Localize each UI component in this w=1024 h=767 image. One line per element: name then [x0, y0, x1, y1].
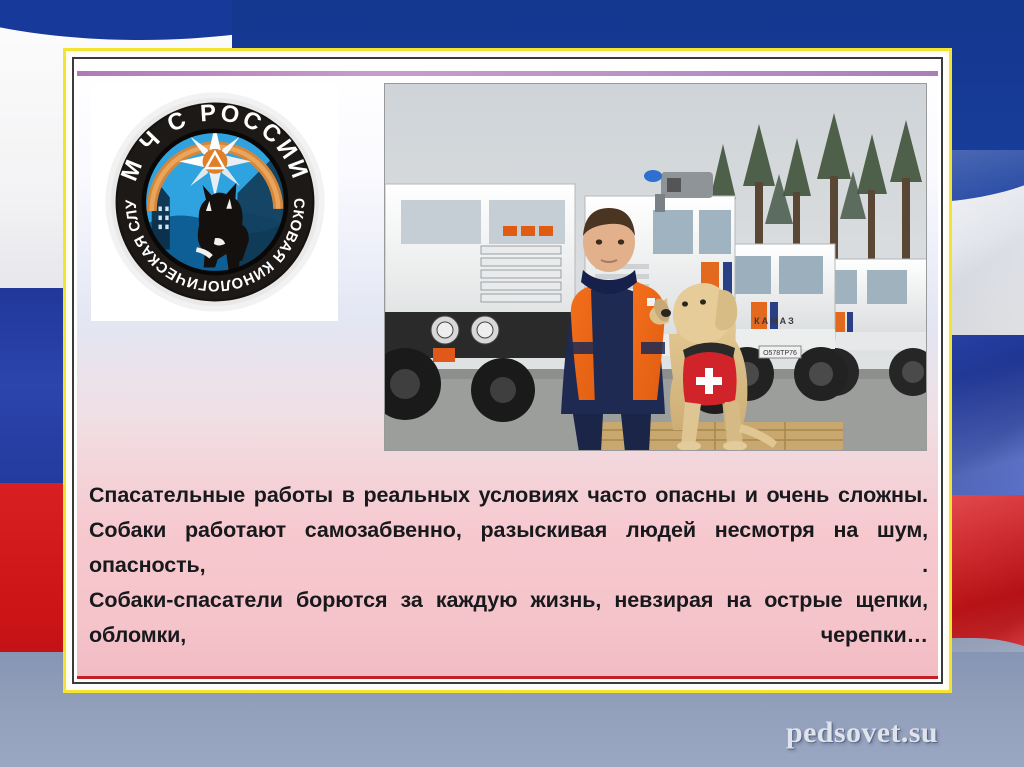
text-paragraph-1: Спасательные работы в реальных условиях … [89, 478, 928, 513]
purple-divider-rule [77, 71, 938, 76]
watermark-pedsovet: pedsovet.su [786, 716, 938, 750]
text-paragraph-2: Собаки работают самозабвенно, разыскивая… [89, 513, 928, 583]
svg-text:КАМАЗ: КАМАЗ [754, 316, 796, 326]
frame-layer-white-outer: М Ч С РОССИИ ПОИСКОВАЯ КИНОЛОГИЧЕСКАЯ СЛ… [69, 54, 946, 687]
emblem-container: М Ч С РОССИИ ПОИСКОВАЯ КИНОЛОГИЧЕСКАЯ СЛ… [91, 83, 338, 321]
emercom-search-dog-service-emblem: М Ч С РОССИИ ПОИСКОВАЯ КИНОЛОГИЧЕСКАЯ СЛ… [102, 89, 328, 315]
frame-layer-dark-border: М Ч С РОССИИ ПОИСКОВАЯ КИНОЛОГИЧЕСКАЯ СЛ… [72, 57, 943, 684]
slide-content-panel: М Ч С РОССИИ ПОИСКОВАЯ КИНОЛОГИЧЕСКАЯ СЛ… [77, 62, 938, 679]
slide-text-block: Спасательные работы в реальных условиях … [89, 478, 928, 653]
photo-illustration: КАМАЗ О578ТР76 [385, 84, 927, 451]
rescuer-with-dog-photo: КАМАЗ О578ТР76 [384, 83, 927, 451]
slide-frame: М Ч С РОССИИ ПОИСКОВАЯ КИНОЛОГИЧЕСКАЯ СЛ… [63, 48, 952, 693]
svg-text:О578ТР76: О578ТР76 [763, 350, 797, 357]
text-paragraph-3: Собаки-спасатели борются за каждую жизнь… [89, 583, 928, 653]
